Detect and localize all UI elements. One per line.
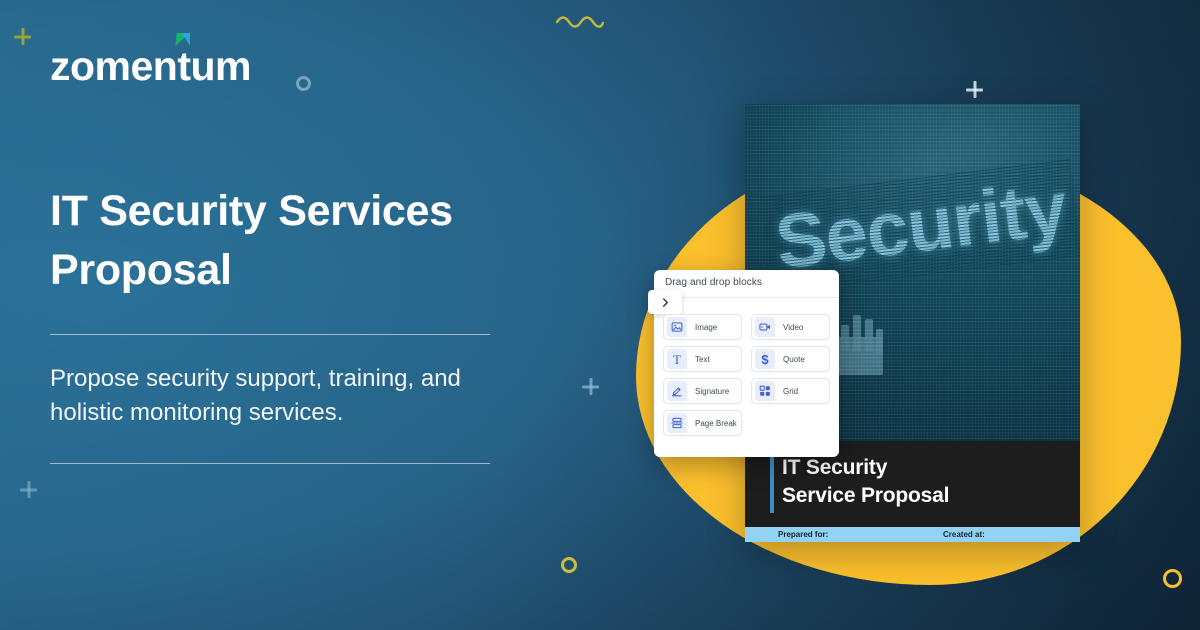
logo-flag-blue-icon: [182, 33, 190, 46]
block-button-label: Text: [695, 355, 710, 364]
poster-canvas: zomentum IT Security Services Proposal P…: [0, 0, 1200, 630]
divider-above-subhead: [50, 334, 490, 335]
block-button-label: Grid: [783, 387, 798, 396]
block-button-video[interactable]: Video: [751, 314, 830, 340]
plus-yellow-top-left-icon: [14, 28, 31, 45]
footer-created-at-label: Created at:: [943, 530, 985, 539]
block-button-label: Quote: [783, 355, 805, 364]
footer-prepared-for-label: Prepared for:: [778, 530, 828, 539]
left-content-column: zomentum IT Security Services Proposal P…: [50, 0, 570, 630]
logo-text-part-2: um: [191, 43, 252, 89]
drag-and-drop-blocks-panel[interactable]: Drag and drop blocks ImageVideoTText$Quo…: [654, 270, 839, 457]
title-accent-bar: [770, 456, 774, 513]
block-button-label: Signature: [695, 387, 729, 396]
panel-title: Drag and drop blocks: [665, 277, 762, 288]
image-icon: [667, 317, 687, 337]
panel-expand-handle[interactable]: [648, 290, 682, 314]
plus-white-top-right-icon: [966, 81, 983, 98]
page-title: IT Security Services Proposal: [50, 182, 520, 301]
block-button-text[interactable]: TText: [663, 346, 742, 372]
document-footer-bar: Prepared for: Created at:: [745, 527, 1080, 542]
plus-light-bottom-left-icon: [20, 481, 37, 498]
block-button-page-break[interactable]: Page Break: [663, 410, 742, 436]
logo-text-part-1: zomen: [50, 43, 177, 89]
block-button-label: Video: [783, 323, 803, 332]
block-button-label: Image: [695, 323, 717, 332]
ring-yellow-right: [1163, 569, 1182, 588]
block-button-signature[interactable]: Signature: [663, 378, 742, 404]
grid-icon: [755, 381, 775, 401]
page-subtitle: Propose security support, training, and …: [50, 362, 520, 431]
document-title-line-1: IT Security: [782, 454, 949, 482]
block-button-image[interactable]: Image: [663, 314, 742, 340]
logo-text-t: t: [177, 43, 190, 89]
zomentum-logo: zomentum: [50, 46, 251, 87]
document-title: IT Security Service Proposal: [782, 454, 949, 510]
video-icon: [755, 317, 775, 337]
quote-dollar-icon: $: [755, 349, 775, 369]
signature-icon: [667, 381, 687, 401]
block-button-quote[interactable]: $Quote: [751, 346, 830, 372]
block-button-grid[interactable]: Grid: [751, 378, 830, 404]
document-title-line-2: Service Proposal: [782, 482, 949, 510]
plus-light-mid-icon: [582, 378, 599, 395]
text-icon: T: [667, 349, 687, 369]
chevron-right-icon: [661, 298, 670, 307]
logo-letter-t: t: [177, 46, 190, 87]
block-button-list: ImageVideoTText$QuoteSignatureGridPage B…: [663, 314, 831, 436]
page-break-icon: [667, 413, 687, 433]
block-button-label: Page Break: [695, 419, 737, 428]
divider-below-subhead: [50, 463, 490, 464]
